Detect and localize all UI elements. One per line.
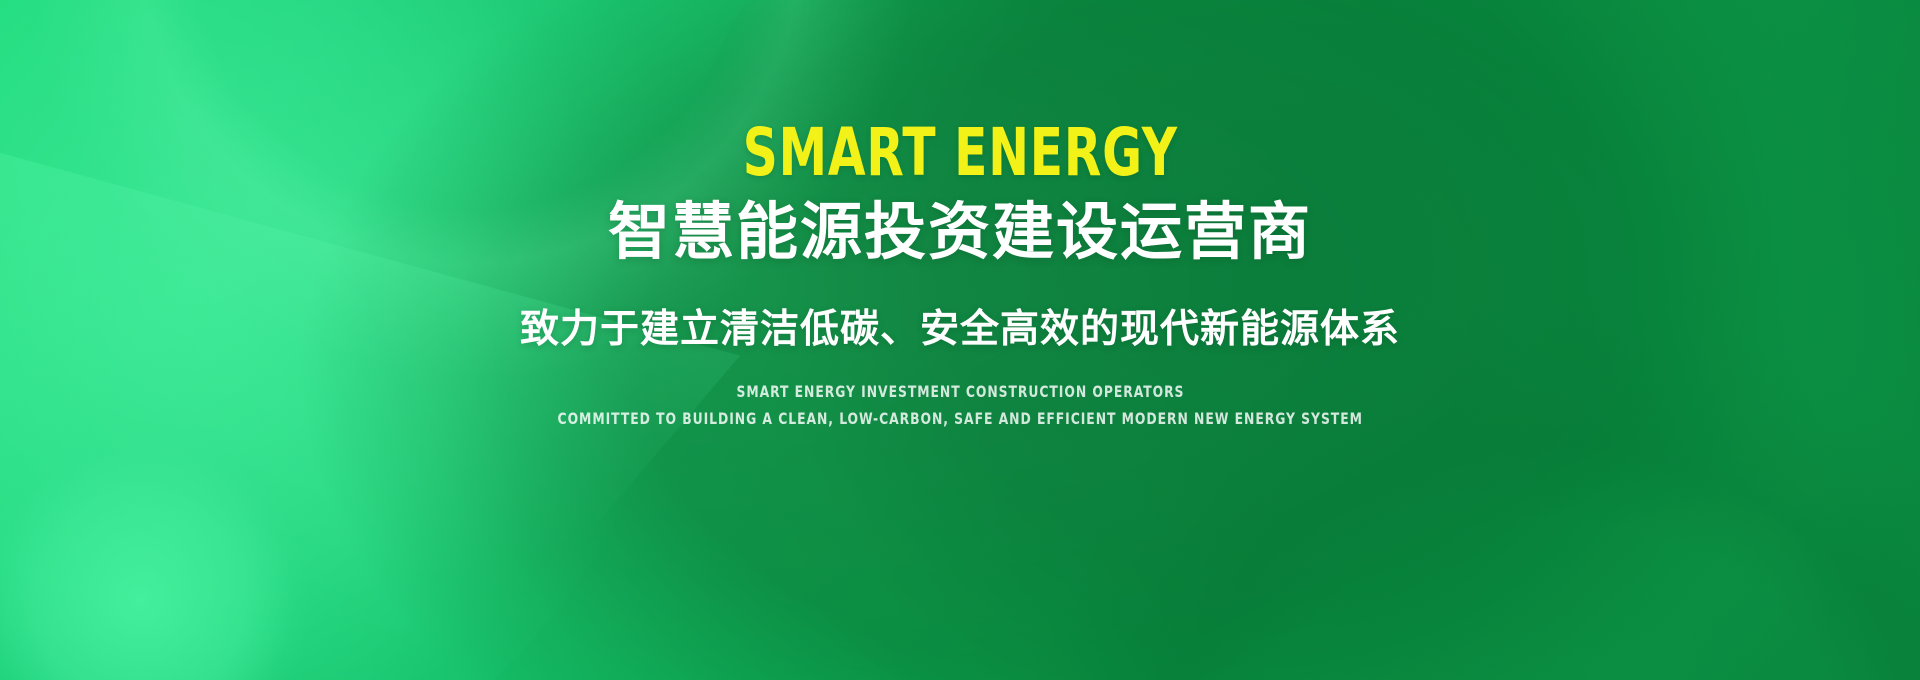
banner-content: SMART ENERGY 智慧能源投资建设运营商 致力于建立清洁低碳、安全高效的…: [0, 0, 1920, 680]
subtitle-chinese: 致力于建立清洁低碳、安全高效的现代新能源体系: [520, 307, 1400, 354]
hero-banner: SMART ENERGY 智慧能源投资建设运营商 致力于建立清洁低碳、安全高效的…: [0, 0, 1920, 680]
subtitle-english-line-2: COMMITTED TO BUILDING A CLEAN, LOW-CARBO…: [557, 407, 1362, 432]
subtitle-english-line-1: SMART ENERGY INVESTMENT CONSTRUCTION OPE…: [736, 380, 1184, 405]
headline-english: SMART ENERGY: [742, 120, 1177, 186]
headline-chinese: 智慧能源投资建设运营商: [608, 200, 1312, 265]
